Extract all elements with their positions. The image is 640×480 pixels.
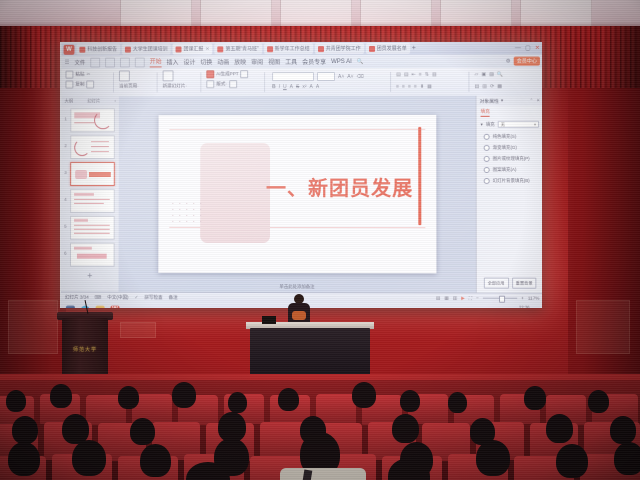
document-tab[interactable]: 新学年工作总结 xyxy=(264,43,313,54)
fill-icon[interactable]: ▨ xyxy=(489,72,494,78)
group-icon[interactable]: ▥ xyxy=(482,84,487,90)
ribbon-tab-member[interactable]: 会员专享 xyxy=(302,57,326,66)
collaborate-icon[interactable]: ⚙ xyxy=(506,58,511,64)
radio-icon[interactable] xyxy=(484,178,490,184)
increase-font-icon[interactable]: A˄ xyxy=(338,74,344,80)
new-tab-button[interactable]: + xyxy=(412,45,416,52)
normal-view-icon[interactable]: ▤ xyxy=(436,295,440,301)
slide-canvas[interactable]: 一、新团员发展 xyxy=(119,96,477,293)
document-tab[interactable]: 大学生团课培训 xyxy=(122,44,171,55)
layout-label: 版式· xyxy=(216,81,227,87)
fill-type-select[interactable]: 无 ▾ xyxy=(498,121,539,128)
radio-icon[interactable] xyxy=(484,156,490,162)
drawing-controls-bottom[interactable]: ▤ ▥ ⟳ ▩ xyxy=(474,84,502,90)
ribbon-tab-design[interactable]: 设计 xyxy=(183,57,195,66)
save-icon[interactable] xyxy=(90,57,100,67)
document-tab-label: 团员发展名单 xyxy=(377,45,407,52)
file-menu[interactable]: 文件 xyxy=(74,58,85,66)
align-left-icon[interactable]: ≡ xyxy=(396,84,399,90)
copy-label: 复制 xyxy=(75,82,84,88)
indent-decrease-icon[interactable]: ⇤ xyxy=(412,72,416,78)
ribbon-tab-transition[interactable]: 切换 xyxy=(200,57,212,66)
slide-thumbnail[interactable]: 1 xyxy=(70,108,115,132)
rotate-icon[interactable]: ⟳ xyxy=(490,84,494,90)
shapes-icon[interactable]: ▱ xyxy=(474,72,478,78)
podium-label: 师范大学 xyxy=(62,346,108,353)
thumbnail-number: 1 xyxy=(64,116,67,121)
new-slide-icon[interactable] xyxy=(163,70,174,81)
taskbar-clock[interactable]: 22:36 2025/11/17 xyxy=(509,306,530,308)
ribbon-group-newslide[interactable]: 新建幻灯片· xyxy=(163,70,187,89)
thumbnail-pane-header: 大纲 幻灯片 ‹ xyxy=(61,96,118,105)
strikethrough-icon[interactable]: S xyxy=(296,84,299,90)
auditorium-photo: W 科技创新报告 大学生团课培训 团课汇报 ✕ 第五期“青马班” 新学年工作总结 xyxy=(0,0,640,480)
document-tab-active[interactable]: 团课汇报 ✕ xyxy=(173,43,213,54)
drawing-controls-top[interactable]: ▱ ▣ ▨ 🔍 xyxy=(474,72,503,78)
font-controls[interactable]: A˄ A˅ ⌫ xyxy=(272,72,364,81)
document-tab-label: 新学年工作总结 xyxy=(275,45,310,52)
slides-tab[interactable]: 幻灯片 xyxy=(87,98,100,104)
fill-option-label: 幻灯片背景填充(B) xyxy=(493,178,530,184)
ppt-icon xyxy=(318,46,324,52)
select-pane-icon[interactable]: ▩ xyxy=(497,84,502,90)
outline-tab[interactable]: 大纲 xyxy=(64,98,73,104)
slideshow-icon[interactable]: ▶ xyxy=(461,295,465,301)
print-icon[interactable] xyxy=(105,57,115,67)
paragraph-controls-bottom[interactable]: ≡ ≡ ≡ ≡ ⬍ ▦ xyxy=(396,84,432,90)
curtain-shadow-left xyxy=(0,26,34,92)
cut-icon[interactable]: ✂ xyxy=(86,72,90,78)
object-properties-pane[interactable]: 对象属性 ▾ ⌃ ✕ 填充 ▾ 填充 无 ▾ xyxy=(475,96,542,293)
audience-area xyxy=(0,380,640,480)
document-tab[interactable]: 团员发展名单 xyxy=(366,43,410,54)
spellcheck-label[interactable]: 拼写检查 xyxy=(144,294,162,300)
font-family-input[interactable] xyxy=(272,72,314,81)
fill-option-row[interactable]: 渐变填充(G) xyxy=(477,142,542,153)
sorter-view-icon[interactable]: ▦ xyxy=(444,295,448,301)
ribbon-tab-review[interactable]: 审阅 xyxy=(251,57,263,66)
reset-icon[interactable] xyxy=(229,80,237,88)
laptop xyxy=(262,316,276,324)
thumbnail-number: 2 xyxy=(64,143,67,148)
ppt-icon xyxy=(267,46,273,52)
superscript-icon[interactable]: x² xyxy=(302,84,306,90)
font-size-input[interactable] xyxy=(317,72,335,81)
wps-document-tabbar[interactable]: W 科技创新报告 大学生团课培训 团课汇报 ✕ 第五期“青马班” 新学年工作总结 xyxy=(62,42,542,56)
chevron-down-icon[interactable]: ▾ xyxy=(481,121,483,127)
text-shadow-icon[interactable]: A xyxy=(290,84,293,90)
wps-menu-row[interactable]: ☰ 文件 开始 插入 设计 切换 动画 放映 审阅 视图 工具 会员专享 WPS… xyxy=(62,55,542,69)
redo-icon[interactable] xyxy=(135,57,145,67)
radio-icon[interactable] xyxy=(484,167,490,173)
curtain-shadow-right xyxy=(606,26,640,92)
apply-all-button[interactable]: 全部应用 xyxy=(484,277,509,288)
italic-icon[interactable]: I xyxy=(279,84,280,90)
bullet-list-icon[interactable]: ▤ xyxy=(396,72,401,78)
fill-option-row[interactable]: 纯色填充(S) xyxy=(477,131,542,142)
fit-to-window-icon[interactable]: ⛶ xyxy=(469,296,472,301)
wps-icon[interactable]: W xyxy=(111,305,120,308)
seated-speaker xyxy=(288,294,310,324)
fill-option-row[interactable]: 幻灯片背景填充(B) xyxy=(477,176,542,187)
slide-accent-bar xyxy=(418,127,421,225)
restore-icon[interactable]: ▢ xyxy=(525,45,531,52)
ribbon-tab-tools[interactable]: 工具 xyxy=(285,57,297,66)
align-right-icon[interactable]: ≡ xyxy=(408,84,411,90)
numbered-list-icon[interactable]: ▤ xyxy=(404,72,409,78)
ribbon-group-slide[interactable]: 当前页用· xyxy=(119,70,139,89)
wall-plaque xyxy=(120,322,156,338)
align-center-icon[interactable]: ≡ xyxy=(402,84,405,90)
pane-header: 对象属性 ▾ ⌃ ✕ xyxy=(477,96,542,106)
clear-format-icon[interactable]: ⌫ xyxy=(357,73,364,79)
pane-fill-section[interactable]: ▾ 填充 无 ▾ xyxy=(477,118,542,131)
paste-icon[interactable] xyxy=(65,71,73,79)
zoom-in-button[interactable]: + xyxy=(521,296,524,301)
zoom-slider[interactable] xyxy=(483,298,517,299)
decrease-font-icon[interactable]: A˅ xyxy=(347,73,353,79)
thumbnail-number: 6 xyxy=(64,251,67,256)
hamburger-icon[interactable]: ☰ xyxy=(65,59,70,65)
notes-label[interactable]: 备注 xyxy=(169,294,178,300)
section-icon[interactable] xyxy=(241,70,249,78)
fill-option-row[interactable]: 图片或纹理填充(P) xyxy=(477,153,542,164)
ribbon-tab-animation[interactable]: 动画 xyxy=(217,57,229,66)
highlight-icon[interactable]: A xyxy=(316,84,319,90)
document-tab[interactable]: 科技创新报告 xyxy=(76,44,120,55)
ribbon-tab-view[interactable]: 视图 xyxy=(268,57,280,66)
radio-icon[interactable] xyxy=(484,145,490,151)
wall-panel-right xyxy=(576,300,630,354)
current-page-label: 当前页用· xyxy=(119,83,139,89)
clock-time: 22:36 xyxy=(519,306,530,308)
collapse-icon[interactable]: ‹ xyxy=(114,98,115,103)
ribbon-tab-slideshow[interactable]: 放映 xyxy=(234,57,246,66)
bold-icon[interactable]: B xyxy=(272,84,276,90)
slide-thumbnail[interactable]: 6 xyxy=(70,243,115,267)
current-slide[interactable]: 一、新团员发展 xyxy=(158,115,436,274)
thumbnail-number: 5 xyxy=(64,224,67,229)
slide-thumbnail[interactable]: 5 xyxy=(70,216,115,240)
fill-option-label: 渐变填充(G) xyxy=(493,145,517,151)
format-painter-icon[interactable] xyxy=(86,81,94,89)
thumbnail-number: 4 xyxy=(64,197,67,202)
font-style-controls[interactable]: B I U A S x² A A xyxy=(272,84,319,90)
close-icon[interactable]: ✕ xyxy=(205,46,209,52)
document-tab-label: 第五期“青马班” xyxy=(225,45,258,52)
ribbon-group-clipboard[interactable]: 粘贴✂ 复制 xyxy=(65,71,94,89)
align-vertical-icon[interactable]: ⬍ xyxy=(420,84,424,90)
slide-notes-placeholder[interactable]: 单击此处添加备注 xyxy=(119,282,477,292)
smartart-icon[interactable]: ▦ xyxy=(427,84,432,90)
copy-icon[interactable] xyxy=(65,81,73,89)
wps-work-area: 大纲 幻灯片 ‹ 1 2 3 xyxy=(61,96,542,293)
thumbnail-number: 3 xyxy=(64,170,67,175)
document-tab-label: 大学生团课培训 xyxy=(133,46,168,53)
font-color-icon[interactable]: A xyxy=(310,84,313,90)
slide-title-text[interactable]: 一、新团员发展 xyxy=(266,172,413,201)
slide-thumbnail-selected[interactable]: 3 xyxy=(70,162,115,186)
arrange-icon[interactable]: ▣ xyxy=(481,72,486,78)
document-tab-label: 共青团学院工作 xyxy=(326,45,361,52)
zoom-level-label[interactable]: 117% xyxy=(528,296,540,301)
text-direction-icon[interactable]: ⇅ xyxy=(425,72,429,78)
upgrade-button[interactable]: 会员中心 xyxy=(514,57,540,66)
fill-option-label: 图案填充(A) xyxy=(493,167,517,173)
fill-type-value: 无 xyxy=(501,121,505,127)
slide-thumbnail[interactable]: 2 xyxy=(70,135,115,159)
paragraph-controls-top[interactable]: ▤ ▤ ⇤ ≡ ⇅ ▥ xyxy=(396,72,437,78)
ribbon-tab-wps-ai[interactable]: WPS AI xyxy=(331,59,352,65)
new-slide-label: 新建幻灯片· xyxy=(163,83,187,89)
fill-option-label: 纯色填充(S) xyxy=(493,133,517,139)
radio-icon[interactable] xyxy=(484,133,490,139)
start-icon[interactable] xyxy=(66,305,75,308)
language-icon[interactable]: ⌨ xyxy=(95,294,102,300)
ppt-icon xyxy=(176,46,182,52)
close-icon[interactable]: ✕ xyxy=(536,98,540,104)
system-tray[interactable]: ⌃ ▭ ◈ 中 ▣ 22:36 2025/11/17 ▤ xyxy=(466,306,539,308)
line-spacing-icon[interactable]: ≡ xyxy=(419,72,422,78)
document-tab[interactable]: 共青团学院工作 xyxy=(315,43,364,54)
pane-title: 对象属性 xyxy=(480,97,499,104)
ai-ppt-label: AI生成PPT xyxy=(216,71,238,77)
input-method-icon[interactable]: 中 xyxy=(491,307,496,308)
underline-icon[interactable]: U xyxy=(283,84,287,90)
projection-screen: W 科技创新报告 大学生团课培训 团课汇报 ✕ 第五期“青马班” 新学年工作总结 xyxy=(60,42,542,308)
window-controls[interactable]: — ▢ ✕ xyxy=(515,44,542,51)
undo-icon[interactable] xyxy=(120,57,130,67)
pane-tab-fill[interactable]: 填充 xyxy=(481,109,490,117)
pane-action-buttons[interactable]: 全部应用 重置背景 xyxy=(477,277,542,288)
file-explorer-icon[interactable] xyxy=(96,305,105,308)
slide-thumbnail[interactable]: 4 xyxy=(70,189,115,213)
add-slide-button[interactable]: + xyxy=(61,271,119,281)
wps-ribbon[interactable]: 粘贴✂ 复制 当前页用· 新建幻灯片· AI生成PPT 版式· xyxy=(61,68,542,98)
align-objects-icon[interactable]: ▤ xyxy=(474,84,479,90)
ppt-icon xyxy=(125,46,131,52)
slide-dot-pattern xyxy=(172,203,208,227)
justify-icon[interactable]: ≡ xyxy=(414,84,417,90)
ribbon-tab-start[interactable]: 开始 xyxy=(150,56,162,67)
chevron-down-icon[interactable]: ▾ xyxy=(501,98,503,104)
document-tab-label: 团课汇报 xyxy=(184,45,204,52)
reset-background-button[interactable]: 重置背景 xyxy=(512,278,537,289)
ribbon-group-layout[interactable]: AI生成PPT 版式· xyxy=(206,70,248,88)
zoom-out-button[interactable]: − xyxy=(476,296,479,301)
collapse-icon[interactable]: ⌃ xyxy=(530,98,534,104)
wps-logo-icon: W xyxy=(64,44,75,54)
fill-option-label: 图片或纹理填充(P) xyxy=(493,156,530,162)
paste-label: 粘贴 xyxy=(75,72,84,78)
layout-icon[interactable] xyxy=(206,80,214,88)
ai-ppt-icon[interactable] xyxy=(206,70,214,78)
spellcheck-icon[interactable]: ✓ xyxy=(134,294,138,300)
search-icon[interactable]: 🔍 xyxy=(357,58,364,64)
slide-thumbnail-pane[interactable]: 大纲 幻灯片 ‹ 1 2 3 xyxy=(61,96,120,291)
ppt-icon xyxy=(218,46,224,52)
pane-tab-row[interactable]: 填充 xyxy=(477,106,542,118)
fill-option-row[interactable]: 图案填充(A) xyxy=(477,165,542,176)
minimize-icon[interactable]: — xyxy=(515,45,521,51)
chevron-down-icon: ▾ xyxy=(534,122,536,127)
document-tab[interactable]: 第五期“青马班” xyxy=(215,43,262,54)
slide-template-icon[interactable] xyxy=(119,70,130,81)
reading-view-icon[interactable]: ▥ xyxy=(453,295,457,301)
search-replace-icon[interactable]: 🔍 xyxy=(497,72,503,78)
pdf-icon xyxy=(79,46,85,52)
wall-panel-left xyxy=(8,300,58,354)
close-icon[interactable]: ✕ xyxy=(535,45,540,52)
slide-decoration-block xyxy=(200,143,270,243)
ppt-icon xyxy=(369,45,375,51)
pane-section-label: 填充 xyxy=(486,121,495,127)
document-tab-label: 科技创新报告 xyxy=(87,46,117,53)
ribbon-tab-insert[interactable]: 插入 xyxy=(167,57,179,66)
columns-icon[interactable]: ▥ xyxy=(432,72,437,78)
language-label[interactable]: 中文(中国) xyxy=(107,294,128,300)
